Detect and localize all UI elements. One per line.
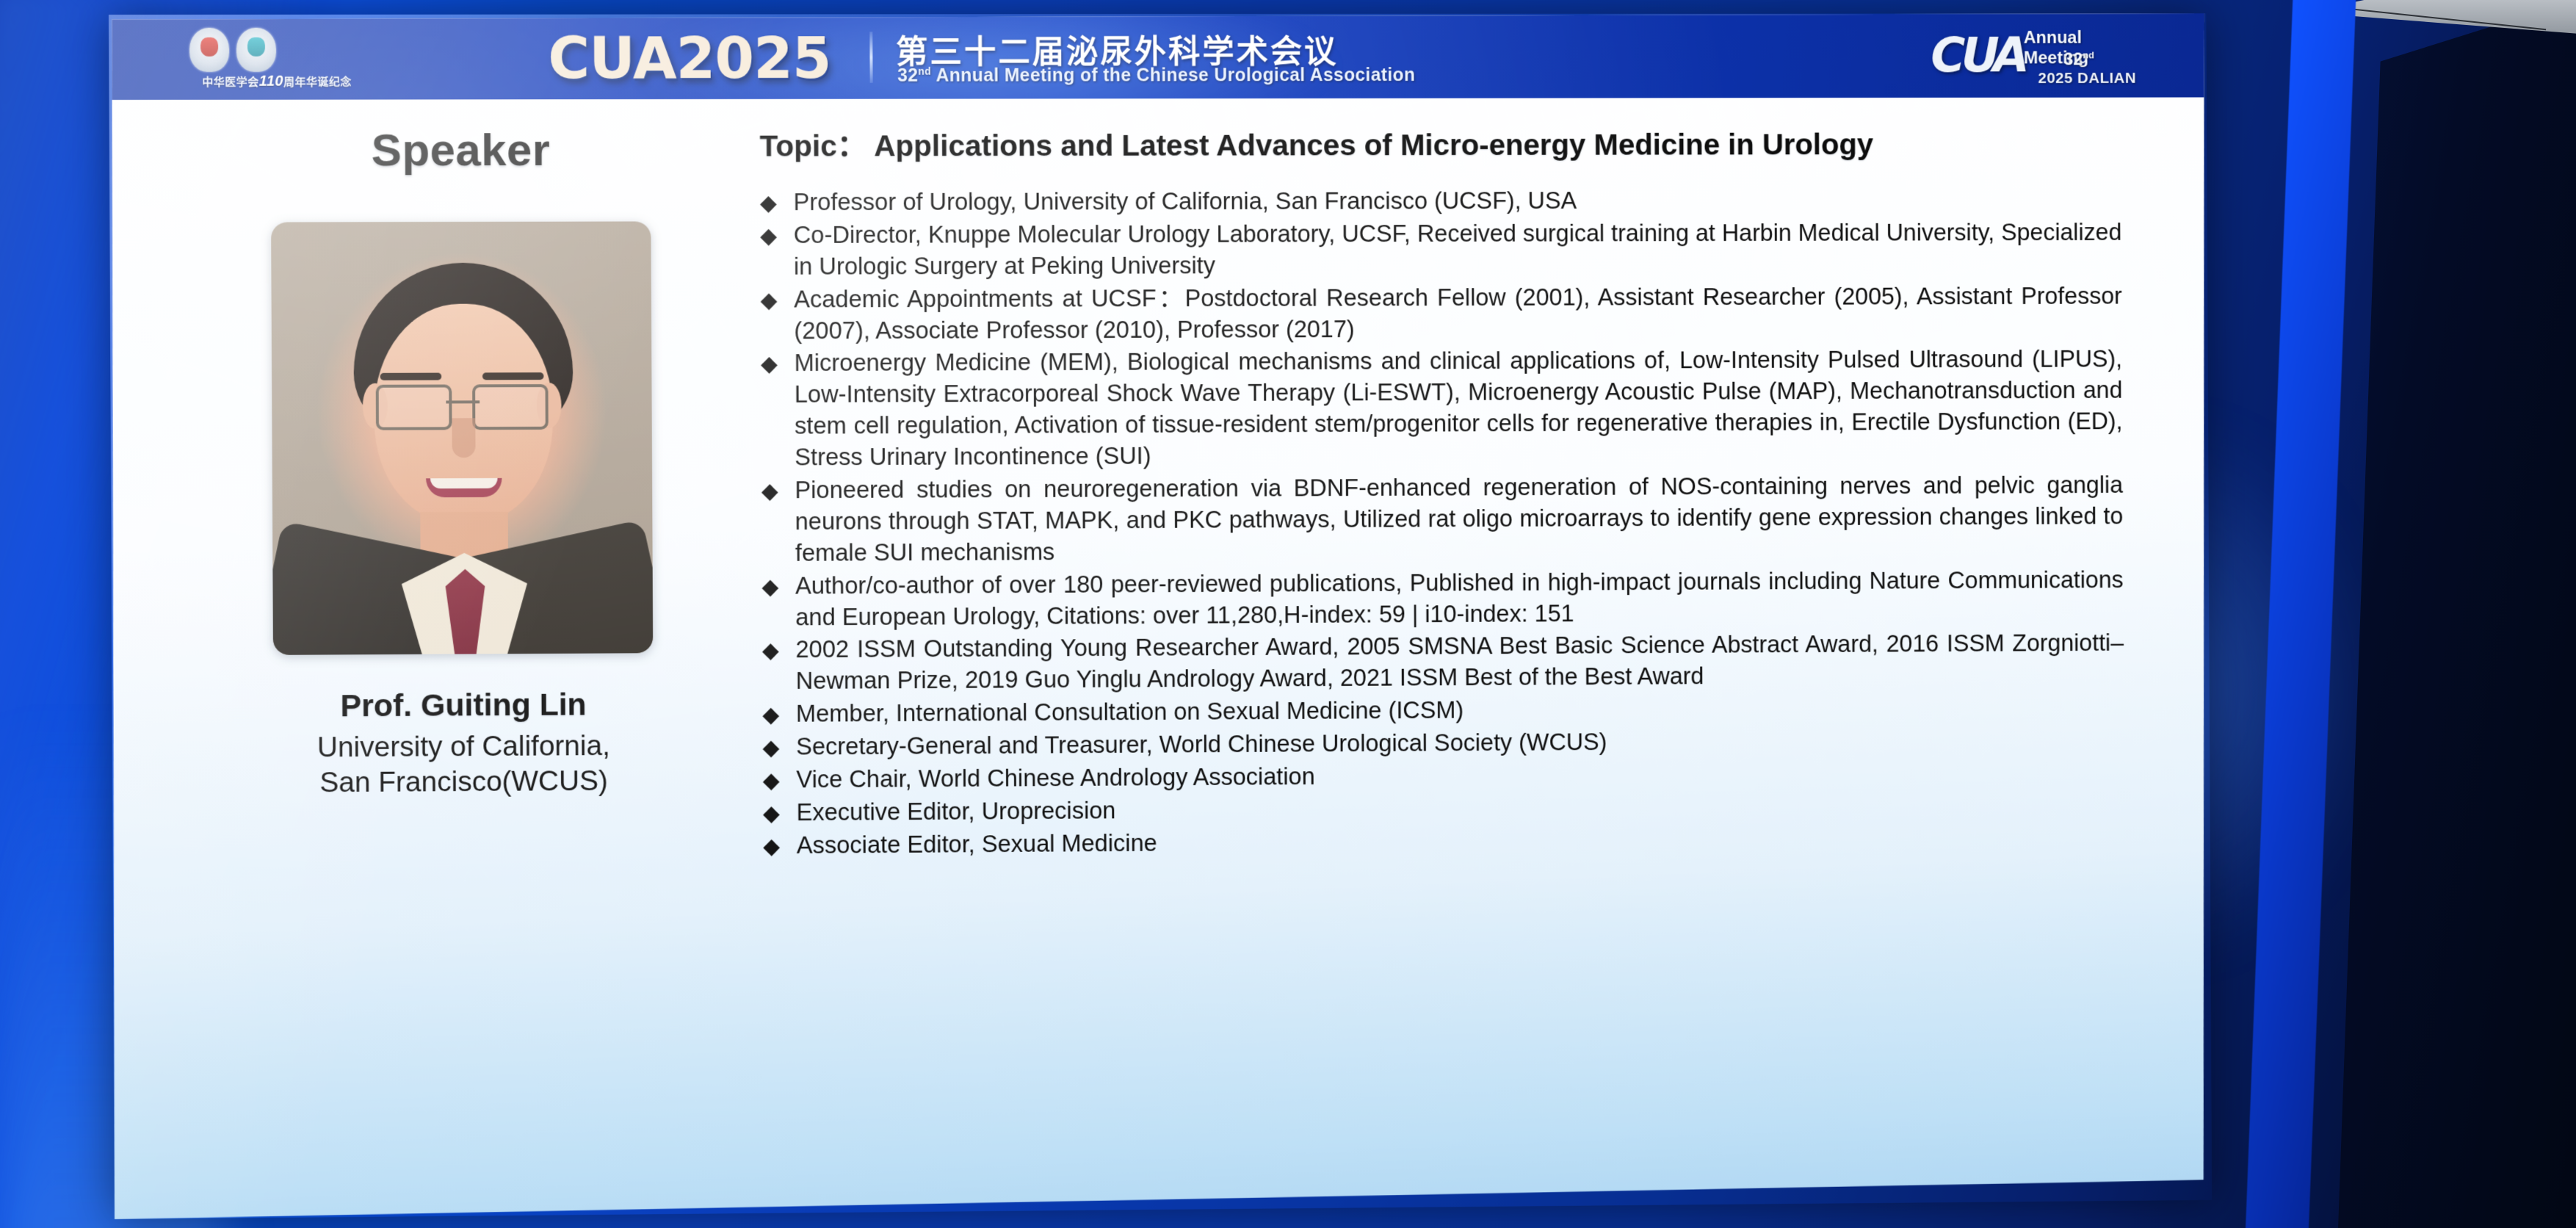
presentation-slide: 中华医学会110周年华诞纪念 CUA2025 第三十二届泌尿外科学术会议 32n…: [109, 13, 2212, 1219]
emblem-caption: 中华医学会110周年华诞纪念: [185, 73, 368, 90]
meeting-name: Annual Meeting of the Chinese Urological…: [931, 65, 1415, 86]
bullet-diamond-icon: ◆: [760, 283, 794, 314]
bio-bullet: ◆Co-Director, Knuppe Molecular Urology L…: [760, 217, 2122, 282]
bullet-text: Member, International Consultation on Se…: [796, 691, 2124, 730]
bullet-text: Associate Editor, Sexual Medicine: [797, 821, 2125, 861]
header-divider: [869, 32, 872, 83]
bio-bullet: ◆Pioneered studies on neuroregeneration …: [761, 469, 2124, 568]
annual-meeting-ordinal: 32nd: [2063, 50, 2094, 71]
cua-emblem-icon: [236, 28, 276, 72]
cma-emblem-icon: [189, 28, 229, 72]
bio-bullet: ◆Academic Appointments at UCSF：Postdocto…: [760, 281, 2122, 347]
conference-room-background: 中华医学会110周年华诞纪念 CUA2025 第三十二届泌尿外科学术会议 32n…: [0, 0, 2576, 1228]
bio-bullet: ◆Associate Editor, Sexual Medicine: [763, 821, 2124, 862]
bio-bullet: ◆Author/co-author of over 180 peer-revie…: [761, 564, 2123, 633]
speaker-heading: Speaker: [220, 124, 702, 177]
bullet-diamond-icon: ◆: [761, 348, 795, 379]
cua-monogram-icon: CUA: [1931, 25, 2025, 86]
annual-meeting-location: 2025 DALIAN: [2038, 70, 2136, 87]
meeting-ordinal-suffix: nd: [918, 65, 931, 77]
speaker-affiliation-line1: University of California,: [222, 728, 705, 765]
bullet-text: Academic Appointments at UCSF：Postdoctor…: [794, 281, 2122, 347]
bullet-diamond-icon: ◆: [762, 635, 796, 665]
slide-header-band: 中华医学会110周年华诞纪念 CUA2025 第三十二届泌尿外科学术会议 32n…: [109, 13, 2207, 100]
emblem-caption-number: 110: [259, 73, 283, 90]
bullet-diamond-icon: ◆: [763, 830, 797, 861]
annual-meeting-ordinal-suffix: nd: [2083, 50, 2094, 61]
bullet-text: Co-Director, Knuppe Molecular Urology La…: [794, 217, 2122, 282]
bullet-diamond-icon: ◆: [760, 187, 794, 217]
bio-bullet: ◆2002 ISSM Outstanding Young Researcher …: [762, 628, 2124, 698]
speaker-portrait-photo: [271, 221, 653, 654]
bio-bullet: ◆Microenergy Medicine (MEM), Biological …: [761, 344, 2123, 473]
emblem-caption-prefix: 中华医学会: [202, 76, 258, 89]
bullet-diamond-icon: ◆: [762, 732, 796, 762]
bullet-diamond-icon: ◆: [763, 764, 797, 795]
bio-bullet-list: ◆Professor of Urology, University of Cal…: [760, 184, 2124, 862]
emblem-caption-suffix: 周年华诞纪念: [283, 76, 352, 89]
speaker-affiliation-line2: San Francisco(WCUS): [222, 763, 705, 801]
bullet-text: Professor of Urology, University of Cali…: [793, 184, 2121, 218]
annual-meeting-ordinal-number: 32: [2063, 50, 2083, 70]
bullet-diamond-icon: ◆: [760, 220, 794, 250]
bullet-diamond-icon: ◆: [763, 797, 797, 828]
association-emblems: [189, 28, 283, 72]
bullet-text: 2002 ISSM Outstanding Young Researcher A…: [795, 628, 2124, 697]
bullet-text: Author/co-author of over 180 peer-review…: [795, 564, 2124, 633]
annual-meeting-logo: CUA Annual Meeting 32nd 2025 DALIAN: [1931, 21, 2145, 90]
bullet-diamond-icon: ◆: [761, 570, 795, 601]
speaker-panel: Speaker Prof. Guiting Lin: [220, 124, 705, 801]
speaker-bio-panel: Topic： Applications and Latest Advances …: [759, 119, 2124, 863]
bullet-text: Pioneered studies on neuroregeneration v…: [795, 469, 2123, 568]
bullet-diamond-icon: ◆: [762, 698, 796, 729]
bullet-text: Microenergy Medicine (MEM), Biological m…: [794, 344, 2122, 473]
bio-bullet: ◆Professor of Urology, University of Cal…: [760, 184, 2121, 218]
conference-title-english: 32nd Annual Meeting of the Chinese Urolo…: [897, 65, 1415, 87]
speaker-affiliation: University of California, San Francisco(…: [222, 728, 705, 801]
meeting-ordinal: 32: [897, 65, 918, 86]
talk-topic: Topic： Applications and Latest Advances …: [759, 119, 2121, 165]
bullet-diamond-icon: ◆: [761, 474, 795, 505]
speaker-name: Prof. Guiting Lin: [222, 687, 704, 726]
projection-screen: 中华医学会110周年华诞纪念 CUA2025 第三十二届泌尿外科学术会议 32n…: [109, 13, 2212, 1219]
cua2025-wordmark: CUA2025: [548, 26, 831, 92]
